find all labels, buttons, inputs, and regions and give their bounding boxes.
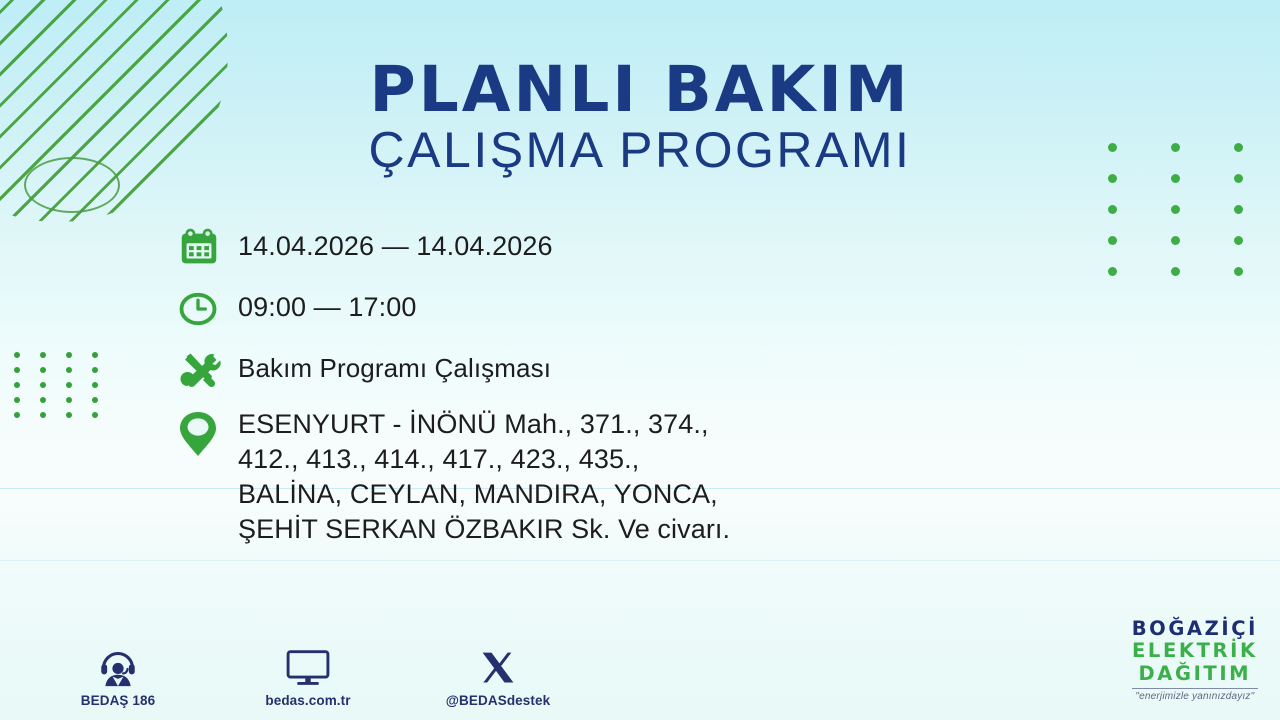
grid-dot [66, 382, 72, 388]
x-twitter-icon [478, 645, 518, 687]
grid-dot [40, 367, 46, 373]
headset-support-icon [98, 645, 138, 687]
grid-dot [66, 367, 72, 373]
brand-logo: BOĞAZİÇİ ELEKTRİK DAĞITIM "enerjimizle y… [1132, 619, 1258, 703]
grid-dot [1234, 205, 1243, 214]
grid-dot [66, 412, 72, 418]
grid-dot [1171, 205, 1180, 214]
grid-dot [1108, 174, 1117, 183]
grid-dot [1234, 143, 1243, 152]
grid-dot [92, 352, 98, 358]
address-line: BALİNA, CEYLAN, MANDIRA, YONCA, [238, 479, 718, 509]
location-pin-icon [176, 405, 238, 463]
grid-dot [1234, 174, 1243, 183]
clock-icon [176, 283, 238, 335]
brand-line-dagitim: DAĞITIM [1132, 664, 1258, 684]
grid-dot [40, 352, 46, 358]
contact-label: bedas.com.tr [265, 693, 350, 708]
monitor-icon [285, 645, 331, 687]
contact-x-social[interactable]: @BEDASdestek [438, 645, 558, 708]
address-value: ESENYURT - İNÖNÜ Mah., 371., 374., 412.,… [238, 405, 730, 547]
detail-row-date: 14.04.2026 — 14.04.2026 [176, 222, 1026, 274]
detail-row-address: ESENYURT - İNÖNÜ Mah., 371., 374., 412.,… [176, 405, 1026, 547]
contact-label: @BEDASdestek [446, 693, 550, 708]
contact-website[interactable]: bedas.com.tr [248, 645, 368, 708]
grid-dot [14, 352, 20, 358]
grid-dot [40, 397, 46, 403]
poster-canvas: PLANLI BAKIM ÇALIŞMA PROGRAMI [0, 0, 1280, 720]
outage-details: 14.04.2026 — 14.04.2026 09:00 — 17:00 [176, 222, 1026, 556]
time-range-value: 09:00 — 17:00 [238, 283, 416, 324]
grid-dot [40, 412, 46, 418]
grid-dot [92, 412, 98, 418]
grid-dot [92, 397, 98, 403]
grid-dot [14, 367, 20, 373]
grid-dot [1171, 174, 1180, 183]
contact-label: BEDAŞ 186 [81, 693, 155, 708]
brand-line-bogazici: BOĞAZİÇİ [1132, 619, 1258, 639]
work-type-value: Bakım Programı Çalışması [238, 344, 551, 384]
grid-dot [1171, 143, 1180, 152]
dot-grid-left-decoration [14, 352, 118, 427]
tools-icon [176, 344, 238, 396]
brand-divider [1132, 688, 1258, 689]
grid-dot [14, 397, 20, 403]
grid-dot [66, 352, 72, 358]
address-line: 412., 413., 414., 417., 423., 435., [238, 444, 639, 474]
background-seam-line [0, 560, 1280, 561]
grid-dot [1108, 143, 1117, 152]
footer-contacts: BEDAŞ 186 bedas.com.tr @BEDASdestek [58, 645, 558, 708]
grid-dot [14, 412, 20, 418]
grid-dot [1171, 236, 1180, 245]
address-line: ESENYURT - İNÖNÜ Mah., 371., 374., [238, 409, 709, 439]
grid-dot [1108, 236, 1117, 245]
date-range-value: 14.04.2026 — 14.04.2026 [238, 222, 553, 263]
grid-dot [92, 382, 98, 388]
grid-dot [1234, 236, 1243, 245]
ellipse-outline-decoration [24, 157, 120, 213]
contact-call-center[interactable]: BEDAŞ 186 [58, 645, 178, 708]
detail-row-time: 09:00 — 17:00 [176, 283, 1026, 335]
brand-line-elektrik: ELEKTRİK [1132, 641, 1258, 661]
grid-dot [1171, 267, 1180, 276]
dot-grid-right-decoration [1108, 143, 1280, 298]
calendar-icon [176, 222, 238, 274]
grid-dot [40, 382, 46, 388]
grid-dot [1234, 267, 1243, 276]
address-line: ŞEHİT SERKAN ÖZBAKIR Sk. Ve civarı. [238, 514, 730, 544]
grid-dot [92, 367, 98, 373]
grid-dot [1108, 205, 1117, 214]
detail-row-work-type: Bakım Programı Çalışması [176, 344, 1026, 396]
grid-dot [1108, 267, 1117, 276]
grid-dot [14, 382, 20, 388]
brand-tagline: "enerjimizle yanınızdayız" [1132, 692, 1258, 702]
grid-dot [66, 397, 72, 403]
